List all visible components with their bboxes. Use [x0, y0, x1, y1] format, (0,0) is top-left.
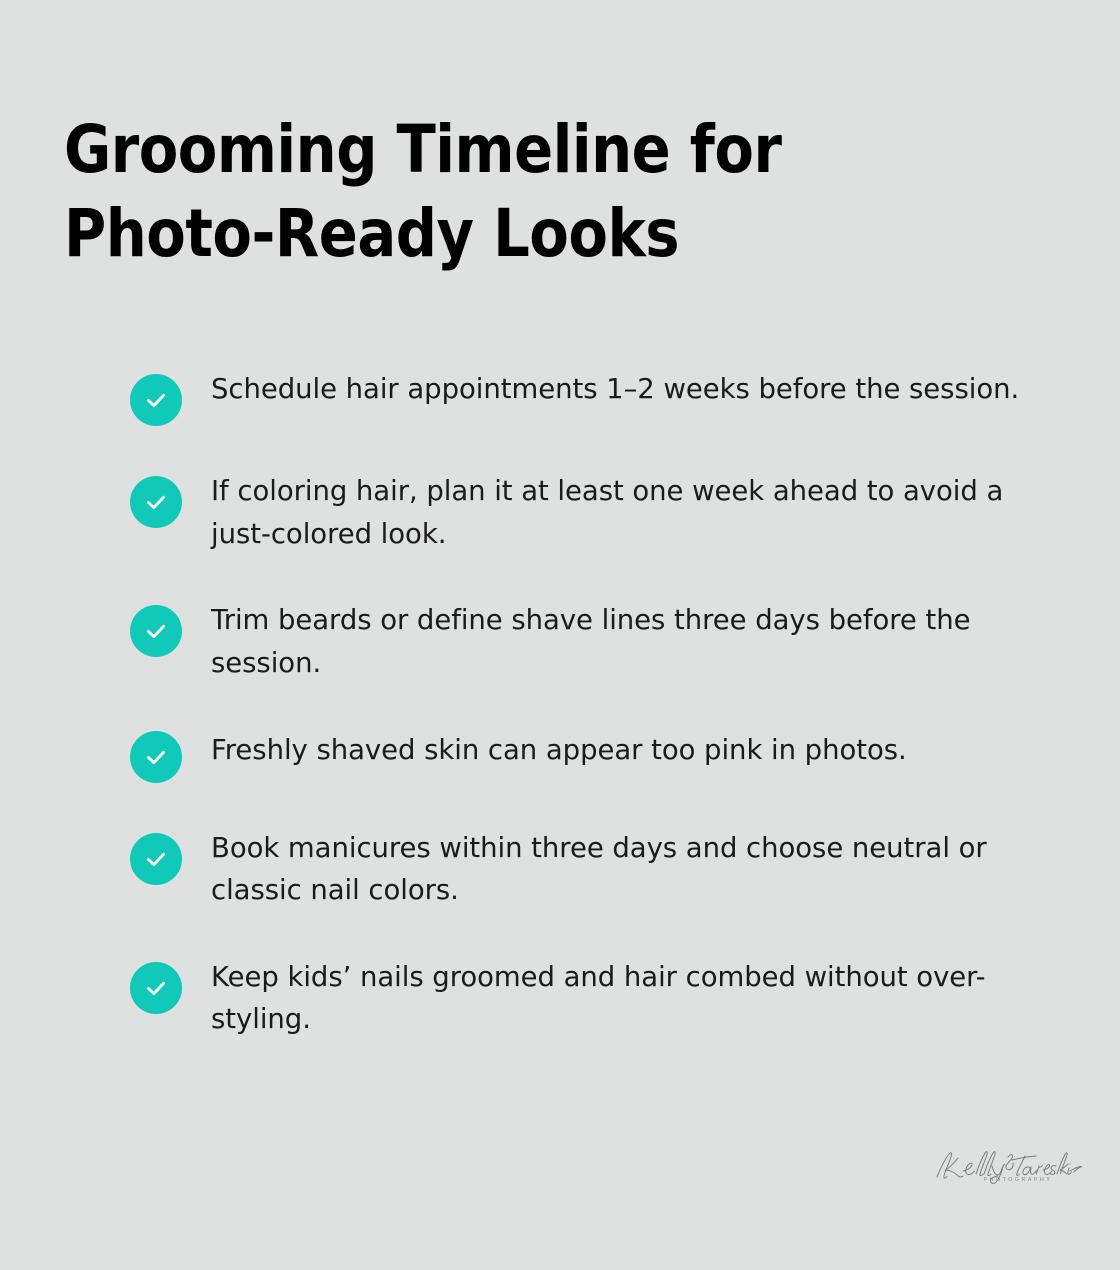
list-item: Freshly shaved skin can appear too pink … [130, 729, 1050, 783]
list-item-text: Trim beards or define shave lines three … [211, 599, 1050, 684]
check-circle-icon [130, 605, 182, 657]
list-item: Book manicures within three days and cho… [130, 827, 1050, 912]
check-circle-icon [130, 833, 182, 885]
list-item: If coloring hair, plan it at least one w… [130, 470, 1050, 555]
infographic-canvas: Grooming Timeline for Photo-Ready Looks … [0, 0, 1120, 1270]
title-block: Grooming Timeline for Photo-Ready Looks [64, 108, 1024, 276]
list-item-text: Book manicures within three days and cho… [211, 827, 1050, 912]
page-title: Grooming Timeline for Photo-Ready Looks [64, 108, 995, 276]
check-circle-icon [130, 962, 182, 1014]
list-item: Keep kids’ nails groomed and hair combed… [130, 956, 1050, 1041]
list-item-text: Keep kids’ nails groomed and hair combed… [211, 956, 1050, 1041]
list-item-text: Freshly shaved skin can appear too pink … [211, 729, 1050, 772]
list-item: Schedule hair appointments 1–2 weeks bef… [130, 368, 1050, 426]
check-circle-icon [130, 476, 182, 528]
check-circle-icon [130, 731, 182, 783]
list-item-text: Schedule hair appointments 1–2 weeks bef… [211, 368, 1050, 411]
watermark-logo: PHOTOGRAPHY [932, 1146, 1082, 1198]
list-item-text: If coloring hair, plan it at least one w… [211, 470, 1050, 555]
watermark-subtitle: PHOTOGRAPHY [954, 1177, 1082, 1183]
list-item: Trim beards or define shave lines three … [130, 599, 1050, 684]
checklist: Schedule hair appointments 1–2 weeks bef… [130, 368, 1050, 1041]
check-circle-icon [130, 374, 182, 426]
